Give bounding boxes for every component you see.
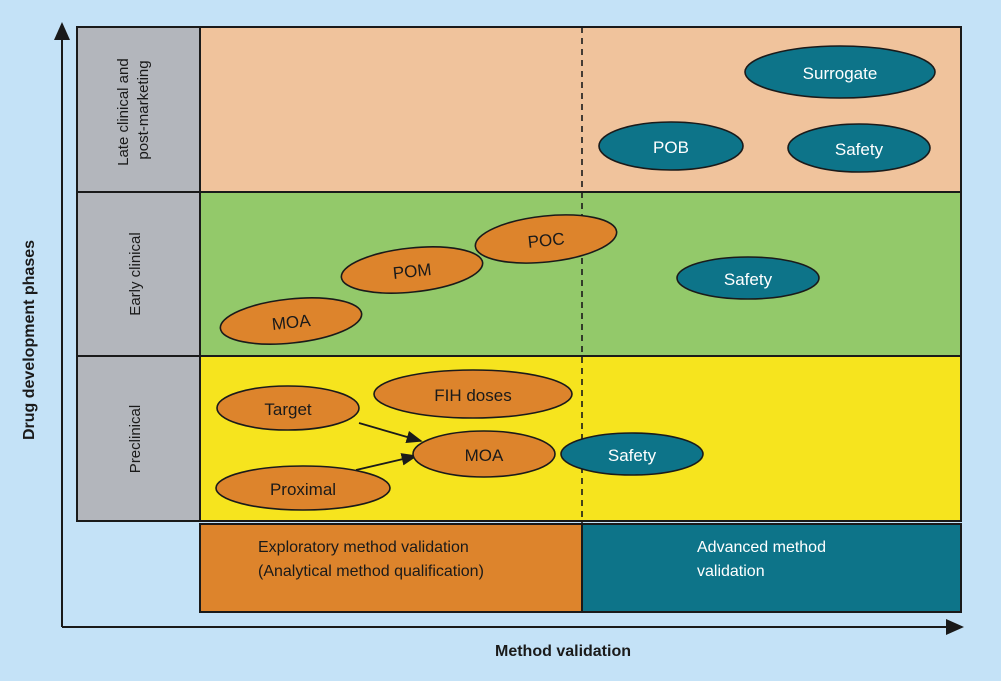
- bottom-bar-advanced-validation: [582, 524, 961, 612]
- node-pre-safety: Safety: [561, 433, 703, 475]
- node-label-fih-doses: FIH doses: [434, 386, 511, 405]
- diagram-root: Drug development phases Method validatio…: [0, 0, 1001, 681]
- node-label-pre-safety: Safety: [608, 446, 657, 465]
- x-axis-title: Method validation: [495, 643, 631, 660]
- node-late-pob: POB: [599, 122, 743, 170]
- row-label-late-clinical-line1: Late clinical and: [115, 58, 132, 166]
- node-label-pre-moa: MOA: [465, 446, 504, 465]
- row-label-preclinical: Preclinical: [127, 405, 144, 473]
- node-label-proximal: Proximal: [270, 480, 336, 499]
- node-pre-proximal: Proximal: [216, 466, 390, 510]
- node-early-safety: Safety: [677, 257, 819, 299]
- node-label-early-safety: Safety: [724, 270, 773, 289]
- bottom-bar-advanced-line1: Advanced method: [697, 539, 826, 556]
- y-axis-title: Drug development phases: [21, 240, 38, 440]
- node-pre-target: Target: [217, 386, 359, 430]
- node-label-late-safety: Safety: [835, 140, 884, 159]
- bottom-bar-advanced-line2: validation: [697, 563, 765, 580]
- node-label-pom: POM: [392, 260, 433, 283]
- node-label-target: Target: [264, 400, 312, 419]
- node-late-surrogate: Surrogate: [745, 46, 935, 98]
- node-label-surrogate: Surrogate: [803, 64, 878, 83]
- bottom-bar-exploratory-line1: Exploratory method validation: [258, 539, 469, 556]
- bottom-bar-exploratory-line2: (Analytical method qualification): [258, 563, 484, 580]
- row-label-late-clinical-line2: post-marketing: [135, 60, 152, 159]
- node-pre-moa: MOA: [413, 431, 555, 477]
- drug-development-method-validation-diagram: Drug development phases Method validatio…: [0, 0, 1001, 681]
- node-label-poc: POC: [527, 229, 566, 252]
- node-pre-fih: FIH doses: [374, 370, 572, 418]
- node-late-safety: Safety: [788, 124, 930, 172]
- node-label-pob: POB: [653, 138, 689, 157]
- row-label-early-clinical: Early clinical: [127, 232, 144, 315]
